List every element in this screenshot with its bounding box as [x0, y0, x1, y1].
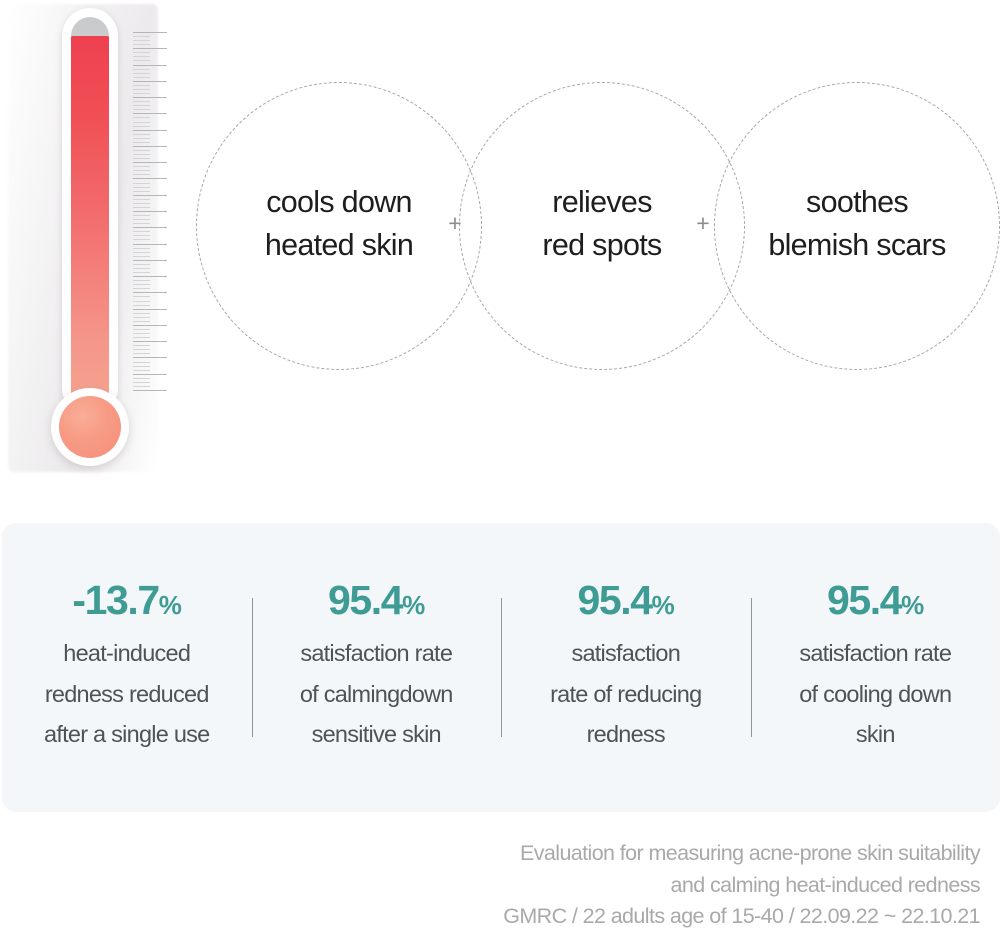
scale-tick-minor [133, 126, 150, 127]
stat-number-4: 95.4 [827, 577, 901, 623]
thermometer-bulb [51, 388, 129, 466]
scale-tick-major [133, 374, 167, 375]
scale-tick-minor [133, 44, 150, 45]
scale-tick-major [133, 65, 167, 66]
scale-tick-minor [133, 215, 150, 216]
scale-tick-major [133, 211, 167, 212]
scale-tick-major [133, 276, 167, 277]
scale-tick-minor [133, 77, 150, 78]
scale-tick-minor [133, 296, 150, 297]
thermometer-mercury-fill [71, 36, 109, 411]
scale-tick-minor [133, 366, 150, 367]
scale-tick-minor [133, 134, 150, 135]
thermometer-bulb-fill [59, 396, 121, 458]
scale-tick-minor [133, 174, 150, 175]
stat-unit-2: % [402, 590, 424, 620]
scale-tick-major [133, 146, 167, 147]
stat-number-3: 95.4 [577, 577, 651, 623]
scale-tick-minor [133, 203, 150, 204]
scale-tick-minor [133, 252, 150, 253]
scale-tick-minor [133, 284, 150, 285]
scale-tick-minor [133, 89, 150, 90]
scale-tick-minor [133, 386, 150, 387]
scale-tick-minor [133, 69, 150, 70]
scale-tick-minor [133, 223, 150, 224]
scale-tick-minor [133, 248, 150, 249]
scale-tick-major [133, 113, 167, 114]
scale-tick-minor [133, 382, 150, 383]
scale-tick-major [133, 325, 167, 326]
scale-tick-major [133, 178, 167, 179]
stat-description-1: heat-induced redness reduced after a sin… [44, 633, 209, 754]
scale-tick-minor [133, 288, 150, 289]
scale-tick-major [133, 227, 167, 228]
stat-number-2: 95.4 [328, 577, 402, 623]
stat-number-1: -13.7 [72, 577, 158, 623]
scale-tick-minor [133, 60, 150, 61]
scale-tick-minor [133, 73, 150, 74]
scale-tick-minor [133, 362, 150, 363]
scale-tick-minor [133, 117, 150, 118]
thermometer-icon [0, 0, 200, 480]
stat-description-4: satisfaction rate of cooling down skin [799, 633, 951, 754]
scale-tick-minor [133, 101, 150, 102]
stat-card-3: 95.4% satisfaction rate of reducing redn… [501, 580, 751, 754]
scale-tick-major [133, 357, 167, 358]
scale-tick-major [133, 162, 167, 163]
scale-tick-major [133, 309, 167, 310]
stat-card-2: 95.4% satisfaction rate of calmingdown s… [252, 580, 502, 754]
infographic-root: cools down heated skin relieves red spot… [0, 0, 1002, 940]
study-footnote: Evaluation for measuring acne-prone skin… [280, 838, 980, 933]
scale-tick-minor [133, 36, 150, 37]
scale-tick-minor [133, 191, 150, 192]
plus-icon-1: + [444, 212, 466, 234]
scale-tick-minor [133, 313, 150, 314]
scale-tick-minor [133, 378, 150, 379]
scale-tick-minor [133, 56, 150, 57]
scale-tick-minor [133, 207, 150, 208]
scale-tick-major [133, 244, 167, 245]
scale-tick-minor [133, 317, 150, 318]
scale-tick-minor [133, 40, 150, 41]
scale-tick-minor [133, 219, 150, 220]
scale-tick-minor [133, 85, 150, 86]
benefit-venn-diagram: cools down heated skin relieves red spot… [196, 82, 1002, 372]
scale-tick-minor [133, 235, 150, 236]
scale-tick-minor [133, 138, 150, 139]
thermometer-scale-ticks [133, 32, 173, 390]
stat-unit-1: % [159, 590, 181, 620]
scale-tick-minor [133, 272, 150, 273]
scale-tick-minor [133, 301, 150, 302]
scale-tick-minor [133, 150, 150, 151]
benefit-circle-1: cools down heated skin [196, 82, 482, 370]
thermometer-tube [62, 8, 118, 416]
scale-tick-minor [133, 187, 150, 188]
stat-card-4: 95.4% satisfaction rate of cooling down … [751, 580, 1001, 754]
scale-tick-minor [133, 166, 150, 167]
scale-tick-minor [133, 93, 150, 94]
stat-unit-4: % [901, 590, 923, 620]
scale-tick-major [133, 32, 167, 33]
scale-tick-minor [133, 264, 150, 265]
scale-tick-major [133, 81, 167, 82]
scale-tick-major [133, 260, 167, 261]
scale-tick-major [133, 341, 167, 342]
scale-tick-minor [133, 370, 150, 371]
benefit-label-1: cools down heated skin [265, 181, 413, 268]
scale-tick-minor [133, 329, 150, 330]
scale-tick-minor [133, 256, 150, 257]
scale-tick-minor [133, 239, 150, 240]
stat-value-4: 95.4% [827, 580, 924, 621]
scale-tick-minor [133, 158, 150, 159]
scale-tick-major [133, 97, 167, 98]
scale-tick-minor [133, 333, 150, 334]
scale-tick-minor [133, 122, 150, 123]
scale-tick-minor [133, 183, 150, 184]
scale-tick-minor [133, 199, 150, 200]
scale-tick-minor [133, 105, 150, 106]
scale-tick-minor [133, 280, 150, 281]
scale-tick-minor [133, 349, 150, 350]
stat-description-2: satisfaction rate of calmingdown sensiti… [300, 633, 453, 754]
plus-icon-2: + [692, 212, 714, 234]
stat-value-1: -13.7% [72, 580, 181, 621]
scale-tick-major [133, 195, 167, 196]
scale-tick-major [133, 390, 167, 391]
scale-tick-major [133, 292, 167, 293]
scale-tick-minor [133, 154, 150, 155]
scale-tick-minor [133, 321, 150, 322]
scale-tick-minor [133, 52, 150, 53]
stat-card-1: -13.7% heat-induced redness reduced afte… [2, 580, 252, 754]
benefit-label-3: soothes blemish scars [768, 181, 945, 268]
stat-description-3: satisfaction rate of reducing redness [550, 633, 701, 754]
scale-tick-minor [133, 353, 150, 354]
scale-tick-minor [133, 268, 150, 269]
scale-tick-minor [133, 345, 150, 346]
scale-tick-minor [133, 305, 150, 306]
scale-tick-major [133, 48, 167, 49]
stat-value-2: 95.4% [328, 580, 425, 621]
statistics-panel: -13.7% heat-induced redness reduced afte… [2, 523, 1000, 812]
stat-value-3: 95.4% [577, 580, 674, 621]
scale-tick-minor [133, 231, 150, 232]
benefit-circle-3: soothes blemish scars [714, 82, 1000, 370]
scale-tick-minor [133, 142, 150, 143]
stat-unit-3: % [652, 590, 674, 620]
scale-tick-major [133, 130, 167, 131]
scale-tick-minor [133, 109, 150, 110]
scale-tick-minor [133, 337, 150, 338]
scale-tick-minor [133, 170, 150, 171]
benefit-label-2: relieves red spots [542, 181, 661, 268]
